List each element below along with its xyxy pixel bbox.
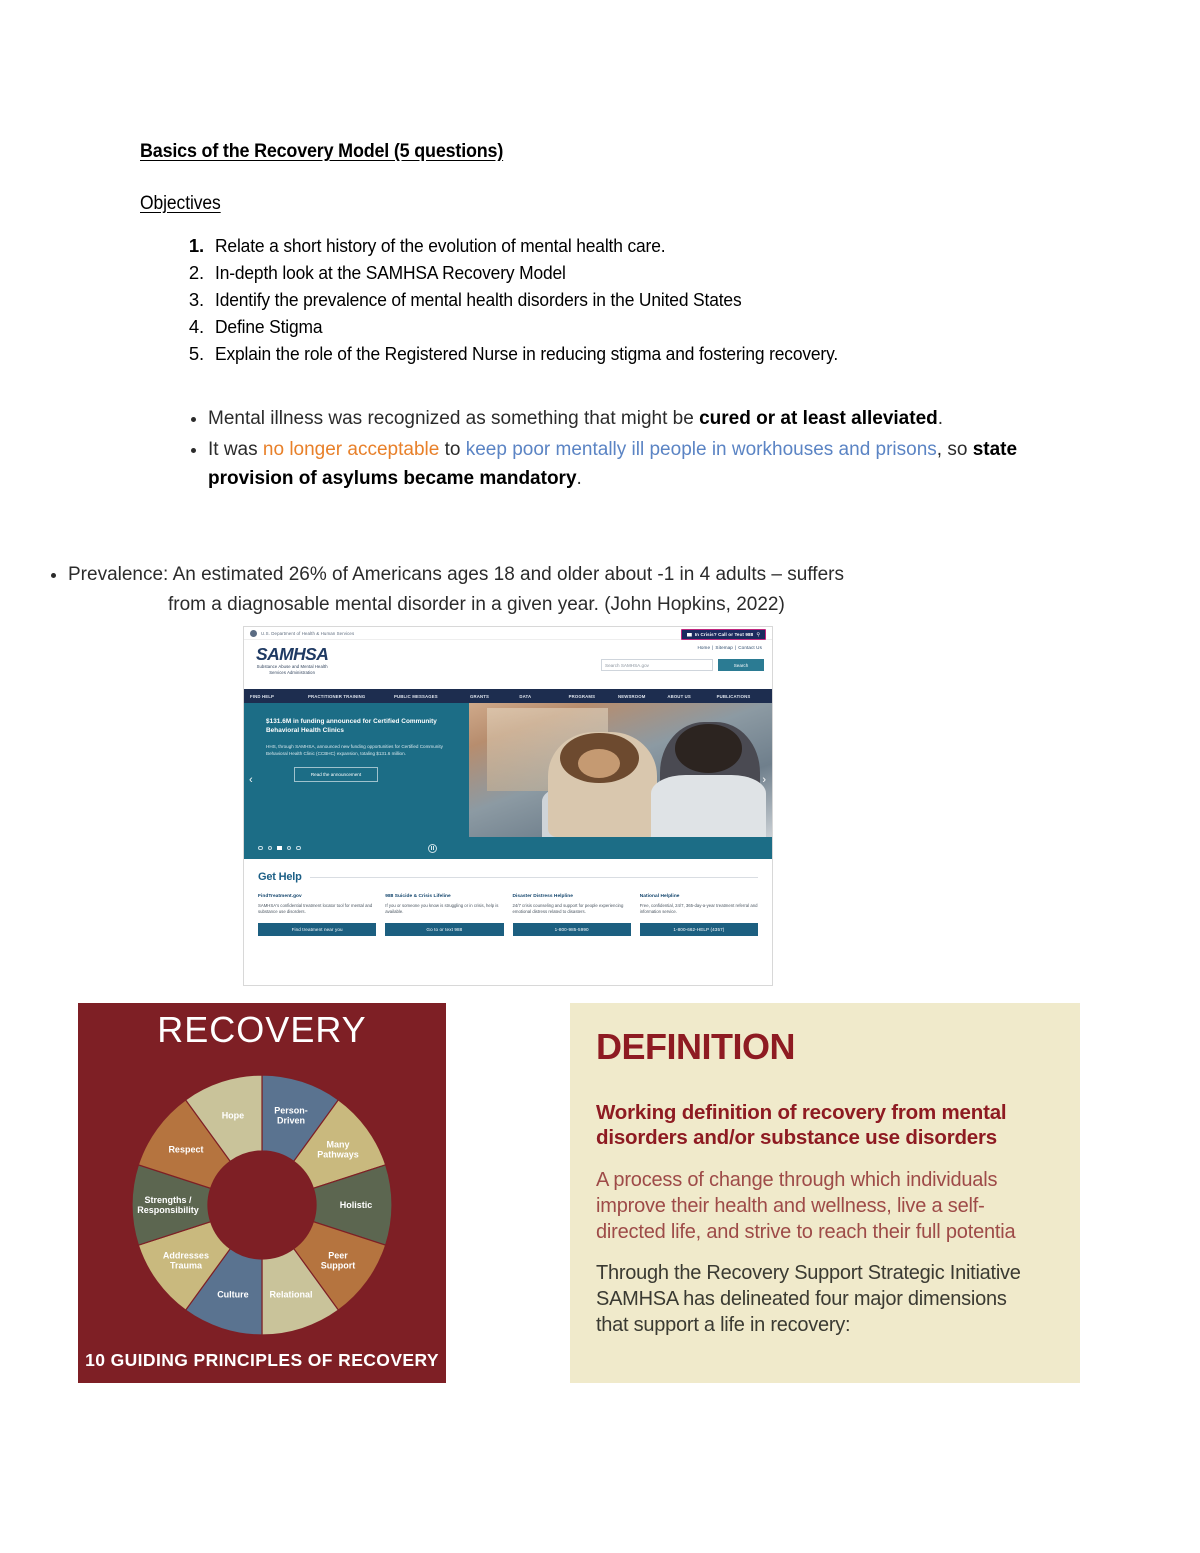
bullet-text-plain-3: , so bbox=[937, 439, 973, 460]
definition-p1-line-2: improve their health and wellness, live … bbox=[596, 1193, 1054, 1219]
utility-link-contact[interactable]: Contact Us bbox=[736, 645, 764, 650]
objectives-heading: Objectives bbox=[140, 193, 221, 215]
carousel-pause-icon[interactable] bbox=[428, 844, 437, 853]
hero-headline: $131.6M in funding announced for Certifi… bbox=[266, 717, 453, 735]
card-heading: 988 Suicide & Crisis Lifeline bbox=[385, 894, 503, 899]
recovery-wheel-footer: 10 GUIDING PRINCIPLES OF RECOVERY bbox=[78, 1350, 446, 1371]
list-item: Identify the prevalence of mental health… bbox=[209, 286, 878, 313]
prevalence-bullet-list: Prevalence: An estimated 26% of American… bbox=[30, 560, 1060, 620]
card-heading: Disaster Distress Helpline bbox=[513, 894, 631, 899]
carousel-dot-2[interactable] bbox=[268, 846, 273, 851]
card-body: 24/7 crisis counseling and support for p… bbox=[513, 903, 631, 915]
divider bbox=[310, 877, 758, 878]
definition-p1-line-3: directed life, and strive to reach their… bbox=[596, 1219, 1054, 1245]
recovery-wheel-title: RECOVERY bbox=[78, 1009, 446, 1051]
list-item: Explain the role of the Registered Nurse… bbox=[209, 340, 878, 367]
donut-label: Hope bbox=[222, 1111, 245, 1121]
definition-p2-line-1: Through the Recovery Support Strategic I… bbox=[596, 1260, 1054, 1286]
samhsa-website-screenshot: U.S. Department of Health & Human Servic… bbox=[243, 626, 773, 986]
document-page: Basics of the Recovery Model (5 question… bbox=[0, 0, 1200, 1553]
utility-links[interactable]: Home|Sitemap|Contact Us bbox=[695, 645, 764, 650]
hero-carousel: $131.6M in funding announced for Certifi… bbox=[244, 703, 772, 837]
card-body: SAMHSA's confidential treatment locator … bbox=[258, 903, 376, 915]
list-item: In-depth look at the SAMHSA Recovery Mod… bbox=[209, 259, 878, 286]
bullet-text-plain-2: to bbox=[439, 439, 465, 460]
card-button[interactable]: Find treatment near you bbox=[258, 923, 376, 936]
list-item: Mental illness was recognized as somethi… bbox=[208, 404, 1055, 433]
donut-label: Strengths /Responsibility bbox=[137, 1195, 199, 1215]
carousel-prev-icon[interactable]: ‹ bbox=[249, 775, 253, 786]
carousel-dot-4[interactable] bbox=[287, 846, 292, 851]
get-help-card-988-lifeline: 988 Suicide & Crisis Lifeline If you or … bbox=[385, 894, 503, 936]
main-navigation[interactable]: FIND HELP PRACTITIONER TRAINING PUBLIC M… bbox=[244, 689, 772, 703]
recovery-wheel-donut: Person-DrivenManyPathwaysHolisticPeerSup… bbox=[126, 1069, 398, 1341]
bullet-text-orange: no longer acceptable bbox=[263, 439, 439, 460]
carousel-dots[interactable] bbox=[258, 846, 301, 851]
card-body: If you or someone you know is struggling… bbox=[385, 903, 503, 915]
crisis-banner[interactable]: In Crisis? Call or Text 988 ⚲ bbox=[681, 629, 766, 640]
get-help-section: Get Help FindTreatment.gov SAMHSA's conf… bbox=[244, 859, 772, 985]
definition-p1-line-1: A process of change through which indivi… bbox=[596, 1167, 1054, 1193]
samhsa-logo[interactable]: SAMHSA Substance Abuse and Mental Health… bbox=[256, 645, 328, 676]
bullet-text-plain: Mental illness was recognized as somethi… bbox=[208, 408, 699, 429]
site-search[interactable]: Search SAMHSA.gov Search bbox=[601, 659, 764, 671]
recovery-wheel-image: RECOVERY Person-DrivenManyPathwaysHolist… bbox=[78, 1003, 446, 1383]
bullet-text-bold: cured or at least alleviated bbox=[699, 408, 938, 429]
samhsa-logo-tagline-2: Services Administration bbox=[256, 670, 328, 675]
carousel-dot-3-active[interactable] bbox=[277, 846, 282, 851]
definition-p2-line-2: SAMHSA has delineated four major dimensi… bbox=[596, 1286, 1054, 1312]
definition-slide: DEFINITION Working definition of recover… bbox=[570, 1003, 1080, 1383]
carousel-controls[interactable] bbox=[244, 837, 772, 859]
crisis-badge[interactable]: In Crisis? Call or Text 988 ⚲ bbox=[681, 629, 766, 640]
search-button[interactable]: Search bbox=[718, 659, 764, 671]
hero-cta-button[interactable]: Read the announcement bbox=[294, 767, 378, 782]
bullet-text-end-2: . bbox=[577, 468, 582, 489]
definition-paragraph-1: A process of change through which indivi… bbox=[596, 1167, 1054, 1245]
hhs-seal-icon bbox=[250, 630, 257, 637]
card-button[interactable]: 1-800-662-HELP (4357) bbox=[640, 923, 758, 936]
nav-item-about-us[interactable]: ABOUT US bbox=[667, 694, 716, 699]
objective-text: Explain the role of the Registered Nurse… bbox=[215, 340, 838, 367]
list-item: Prevalence: An estimated 26% of American… bbox=[68, 560, 1060, 620]
nav-item-practitioner-training[interactable]: PRACTITIONER TRAINING bbox=[308, 694, 394, 699]
nav-item-find-help[interactable]: FIND HELP bbox=[250, 694, 308, 699]
get-help-title: Get Help bbox=[258, 871, 302, 883]
hhs-banner-text: U.S. Department of Health & Human Servic… bbox=[261, 630, 354, 636]
hero-text-panel: $131.6M in funding announced for Certifi… bbox=[244, 703, 469, 837]
nav-item-grants[interactable]: GRANTS bbox=[470, 694, 519, 699]
hero-photo: › bbox=[469, 703, 772, 837]
objective-text: Identify the prevalence of mental health… bbox=[215, 286, 742, 313]
carousel-dot-5[interactable] bbox=[296, 846, 301, 851]
donut-label: Person-Driven bbox=[274, 1106, 308, 1126]
samhsa-logo-wordmark: SAMHSA bbox=[256, 645, 328, 663]
objective-text: In-depth look at the SAMHSA Recovery Mod… bbox=[215, 259, 566, 286]
nav-item-programs[interactable]: PROGRAMS bbox=[569, 694, 618, 699]
search-input[interactable]: Search SAMHSA.gov bbox=[601, 659, 713, 671]
page-title: Basics of the Recovery Model (5 question… bbox=[140, 140, 503, 163]
donut-label: Culture bbox=[217, 1289, 249, 1299]
list-item: It was no longer acceptable to keep poor… bbox=[208, 435, 1055, 493]
donut-label: Holistic bbox=[340, 1200, 373, 1210]
get-help-card-findtreatment: FindTreatment.gov SAMHSA's confidential … bbox=[258, 894, 376, 936]
utility-link-home[interactable]: Home bbox=[695, 645, 712, 650]
donut-chart-svg: Person-DrivenManyPathwaysHolisticPeerSup… bbox=[126, 1069, 398, 1341]
donut-center-hole bbox=[208, 1151, 316, 1259]
envelope-icon bbox=[687, 633, 692, 637]
get-help-header: Get Help bbox=[258, 871, 758, 883]
definition-title: DEFINITION bbox=[596, 1027, 1054, 1067]
definition-subtitle: Working definition of recovery from ment… bbox=[596, 1100, 1054, 1150]
search-icon[interactable]: ⚲ bbox=[756, 632, 760, 638]
card-body: Free, confidential, 24/7, 365-day-a-year… bbox=[640, 903, 758, 915]
card-heading: National Helpline bbox=[640, 894, 758, 899]
objective-text: Define Stigma bbox=[215, 313, 322, 340]
donut-label: Relational bbox=[270, 1289, 313, 1299]
prevalence-line-2: from a diagnosable mental disorder in a … bbox=[68, 590, 1060, 620]
history-bullet-list: Mental illness was recognized as somethi… bbox=[175, 404, 1055, 495]
definition-p2-line-3: that support a life in recovery: bbox=[596, 1312, 1054, 1338]
objectives-list: Relate a short history of the evolution … bbox=[175, 232, 878, 367]
photo-person-b-coat bbox=[651, 775, 766, 837]
card-heading: FindTreatment.gov bbox=[258, 894, 376, 899]
nav-item-public-messages[interactable]: PUBLIC MESSAGES bbox=[394, 694, 470, 699]
prevalence-line-1: Prevalence: An estimated 26% of American… bbox=[68, 564, 844, 585]
bullet-text-blue: keep poor mentally ill people in workhou… bbox=[466, 439, 937, 460]
bullet-text-plain: It was bbox=[208, 439, 263, 460]
carousel-dot-1[interactable] bbox=[258, 846, 263, 851]
crisis-banner-text: In Crisis? Call or Text 988 bbox=[695, 632, 754, 637]
nav-item-publications[interactable]: PUBLICATIONS bbox=[717, 694, 766, 699]
bullet-text-end: . bbox=[938, 408, 943, 429]
list-item: Relate a short history of the evolution … bbox=[209, 232, 878, 259]
card-button[interactable]: Go to or text 988 bbox=[385, 923, 503, 936]
get-help-card-disaster-distress: Disaster Distress Helpline 24/7 crisis c… bbox=[513, 894, 631, 936]
objective-text: Relate a short history of the evolution … bbox=[215, 232, 665, 259]
nav-item-newsroom[interactable]: NEWSROOM bbox=[618, 694, 667, 699]
nav-item-data[interactable]: DATA bbox=[519, 694, 568, 699]
get-help-columns: FindTreatment.gov SAMHSA's confidential … bbox=[258, 894, 758, 936]
utility-link-sitemap[interactable]: Sitemap bbox=[713, 645, 735, 650]
samhsa-logo-tagline-1: Substance Abuse and Mental Health bbox=[256, 664, 328, 669]
definition-paragraph-2: Through the Recovery Support Strategic I… bbox=[596, 1260, 1054, 1338]
carousel-next-icon[interactable]: › bbox=[762, 775, 766, 786]
donut-label: Respect bbox=[168, 1145, 203, 1155]
photo-person-b-hair bbox=[675, 724, 742, 772]
get-help-card-national-helpline: National Helpline Free, confidential, 24… bbox=[640, 894, 758, 936]
card-button[interactable]: 1-800-985-5990 bbox=[513, 923, 631, 936]
list-item: Define Stigma bbox=[209, 313, 878, 340]
hero-body-text: HHS, through SAMHSA, announced new fundi… bbox=[266, 744, 453, 757]
